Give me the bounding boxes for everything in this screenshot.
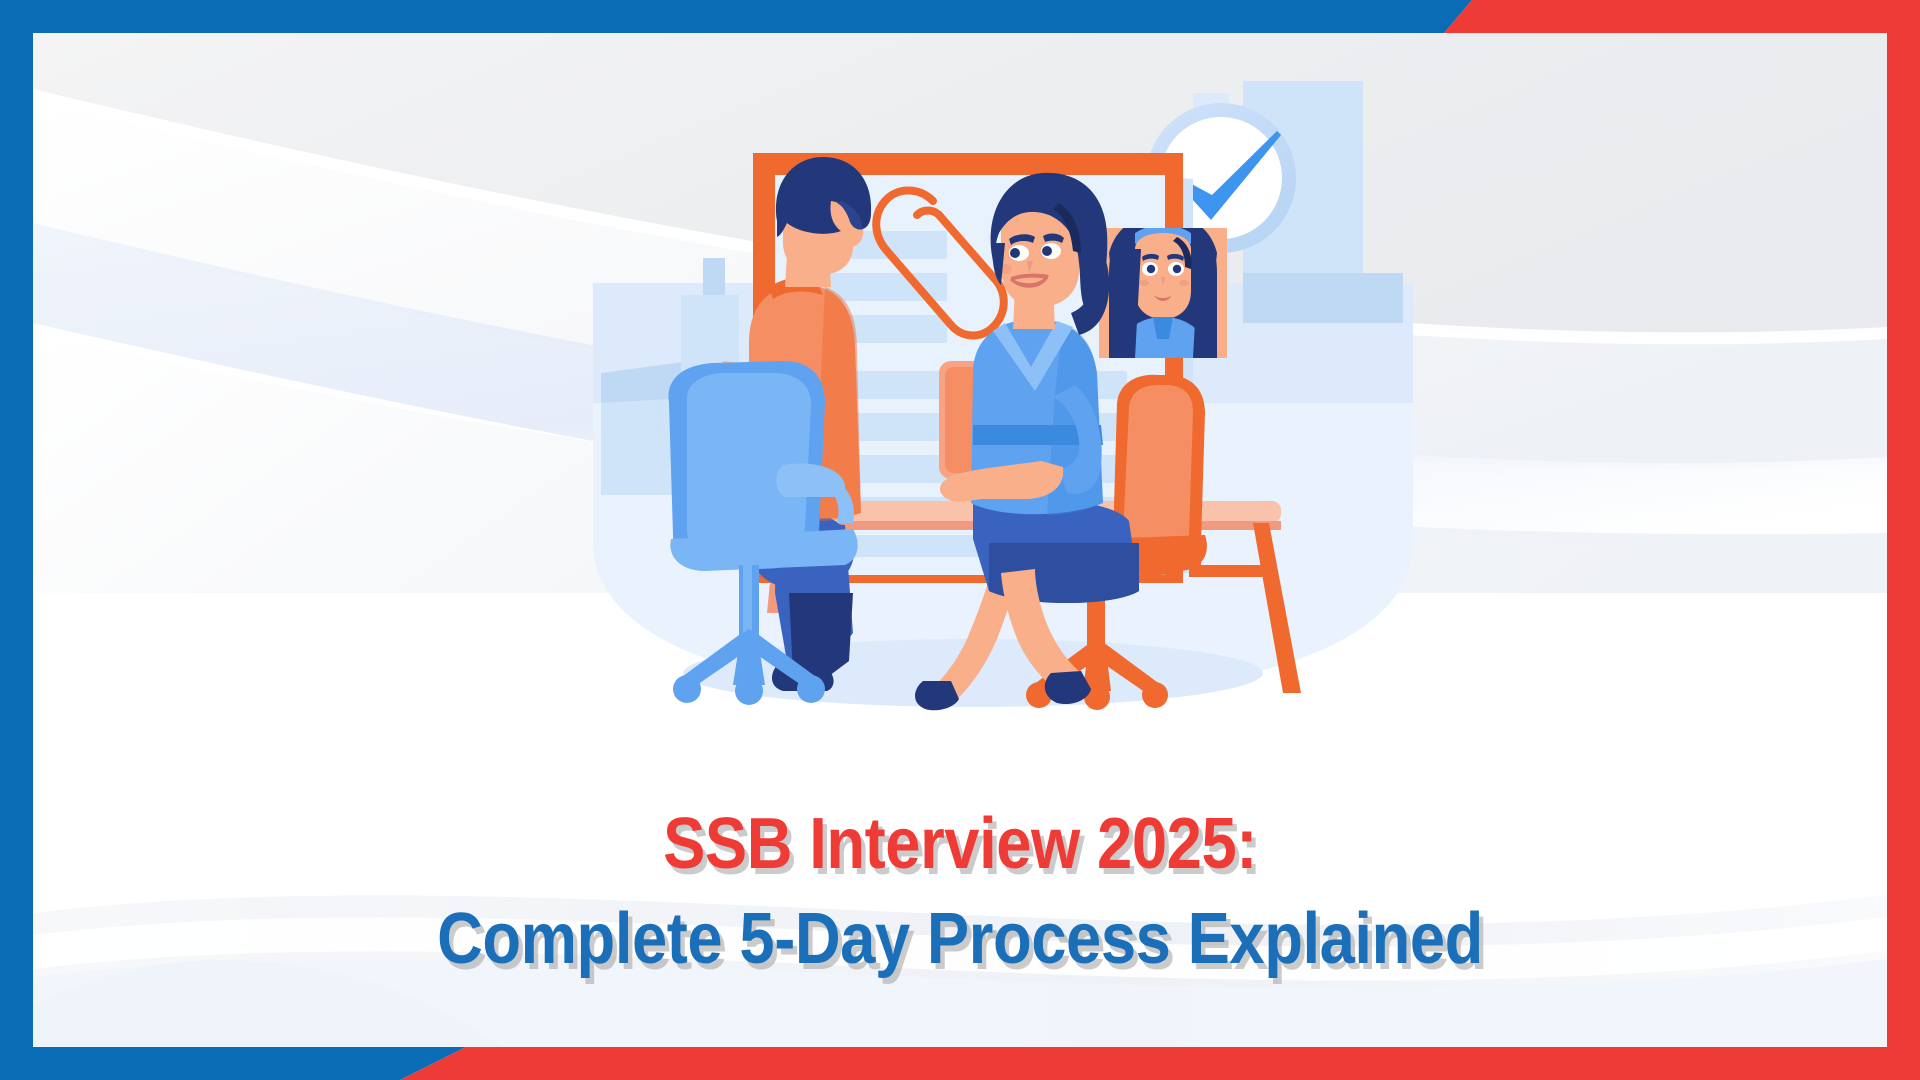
banner-headline: SSB Interview 2025: Complete 5-Day Proce… bbox=[33, 808, 1887, 977]
illustration-job-interview bbox=[553, 73, 1453, 813]
banner-image: SSB Interview 2025: Complete 5-Day Proce… bbox=[0, 0, 1920, 1080]
frame-right-red bbox=[1887, 0, 1920, 1080]
banner-canvas: SSB Interview 2025: Complete 5-Day Proce… bbox=[33, 33, 1887, 1047]
chair-blue-column-2 bbox=[743, 565, 752, 637]
chair-orange-back-inner bbox=[1123, 385, 1193, 561]
window-panel-3 bbox=[1243, 273, 1403, 331]
woman-hand bbox=[940, 477, 997, 502]
frame-left-blue bbox=[0, 0, 33, 1080]
applicant-photo bbox=[1099, 215, 1227, 358]
frame-top-red bbox=[1444, 0, 1920, 33]
frame-top-blue bbox=[0, 0, 1472, 33]
frame-bottom-blue bbox=[0, 1047, 466, 1080]
frame-bottom-red bbox=[400, 1047, 1920, 1080]
headline-line-1: SSB Interview 2025: bbox=[144, 808, 1776, 881]
headline-line-2: Complete 5-Day Process Explained bbox=[144, 903, 1776, 976]
